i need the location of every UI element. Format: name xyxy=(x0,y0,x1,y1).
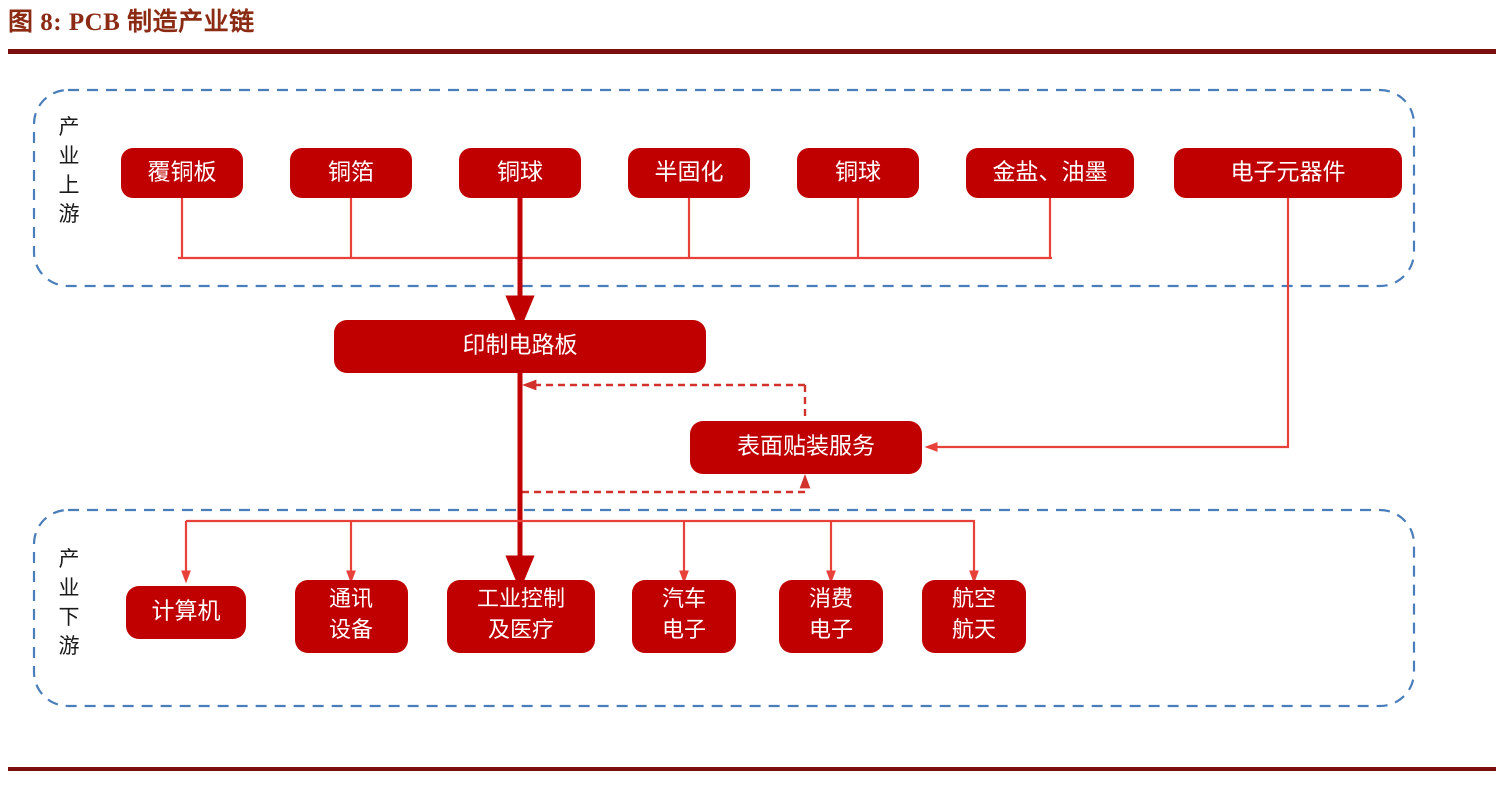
node-automotive-label-line-0: 汽车 xyxy=(662,586,706,611)
node-components[interactable]: 电子元器件 xyxy=(1174,148,1402,198)
node-aerospace-label-line-1: 航天 xyxy=(952,617,996,642)
band-downstream-label-char-3: 游 xyxy=(59,634,80,658)
node-copper-foil-label: 铜箔 xyxy=(328,159,374,184)
node-pcb-label: 印制电路板 xyxy=(463,332,578,357)
upstream-nodes: 覆铜板 铜箔 铜球 半固化 铜球 金盐、油墨 xyxy=(121,148,1402,198)
node-telecom-label-line-0: 通讯 xyxy=(329,586,373,611)
band-upstream-label-char-0: 产 xyxy=(59,115,80,139)
band-upstream-label-char-2: 上 xyxy=(59,173,80,197)
node-pcb[interactable]: 印制电路板 xyxy=(334,320,706,373)
connector-components-to-smt-path xyxy=(930,198,1288,447)
node-industrial[interactable]: 工业控制 及医疗 xyxy=(447,580,595,653)
node-consumer-label-line-1: 电子 xyxy=(809,617,853,642)
node-computer[interactable]: 计算机 xyxy=(126,586,246,639)
band-upstream-label-char-1: 业 xyxy=(59,144,80,168)
downstream-nodes: 计算机 通讯 设备 工业控制 及医疗 汽车 电子 消费 电子 xyxy=(126,580,1026,653)
node-consumer[interactable]: 消费 电子 xyxy=(779,580,883,653)
node-aerospace-label-line-0: 航空 xyxy=(952,586,996,611)
node-gold-salt-ink-label: 金盐、油墨 xyxy=(993,159,1108,184)
node-ccl[interactable]: 覆铜板 xyxy=(121,148,243,198)
node-smt-label: 表面贴装服务 xyxy=(737,433,875,458)
node-automotive-label-line-1: 电子 xyxy=(662,617,706,642)
connector-smt-to-pcb xyxy=(528,385,805,420)
connector-components-to-smt xyxy=(930,198,1288,447)
node-copper-ball-1-label: 铜球 xyxy=(497,159,543,184)
node-consumer-label-line-0: 消费 xyxy=(809,586,853,611)
figure-page: 图 8: PCB 制造产业链 产 业 上 游 xyxy=(0,0,1504,785)
band-downstream-label-char-2: 下 xyxy=(59,605,80,629)
upstream-connector-tree xyxy=(178,198,1052,258)
midstream-nodes: 印制电路板 表面贴装服务 xyxy=(334,320,922,474)
node-aerospace[interactable]: 航空 航天 xyxy=(922,580,1026,653)
node-telecom-label-line-1: 设备 xyxy=(329,617,373,642)
node-smt[interactable]: 表面贴装服务 xyxy=(690,421,922,474)
node-industrial-label-line-1: 及医疗 xyxy=(488,617,554,642)
node-copper-ball-1[interactable]: 铜球 xyxy=(459,148,581,198)
connector-pcb-to-smt xyxy=(522,480,805,492)
band-upstream-label-char-3: 游 xyxy=(59,202,80,226)
node-prepreg-label: 半固化 xyxy=(655,159,724,184)
pcb-industry-chain-diagram: 产 业 上 游 xyxy=(0,0,1504,785)
node-gold-salt-ink[interactable]: 金盐、油墨 xyxy=(966,148,1134,198)
node-ccl-label: 覆铜板 xyxy=(148,159,217,184)
node-prepreg[interactable]: 半固化 xyxy=(628,148,750,198)
band-downstream-label-char-1: 业 xyxy=(59,576,80,600)
node-components-label: 电子元器件 xyxy=(1231,159,1346,184)
node-copper-foil[interactable]: 铜箔 xyxy=(290,148,412,198)
node-industrial-label-line-0: 工业控制 xyxy=(477,586,565,611)
connector-pcb-to-smt-path xyxy=(522,480,805,492)
node-automotive[interactable]: 汽车 电子 xyxy=(632,580,736,653)
node-telecom[interactable]: 通讯 设备 xyxy=(295,580,408,653)
downstream-connector-tree xyxy=(186,521,975,578)
node-copper-ball-2-label: 铜球 xyxy=(835,159,881,184)
node-computer-label: 计算机 xyxy=(152,598,221,623)
band-downstream-label-char-0: 产 xyxy=(59,547,80,571)
node-copper-ball-2[interactable]: 铜球 xyxy=(797,148,919,198)
